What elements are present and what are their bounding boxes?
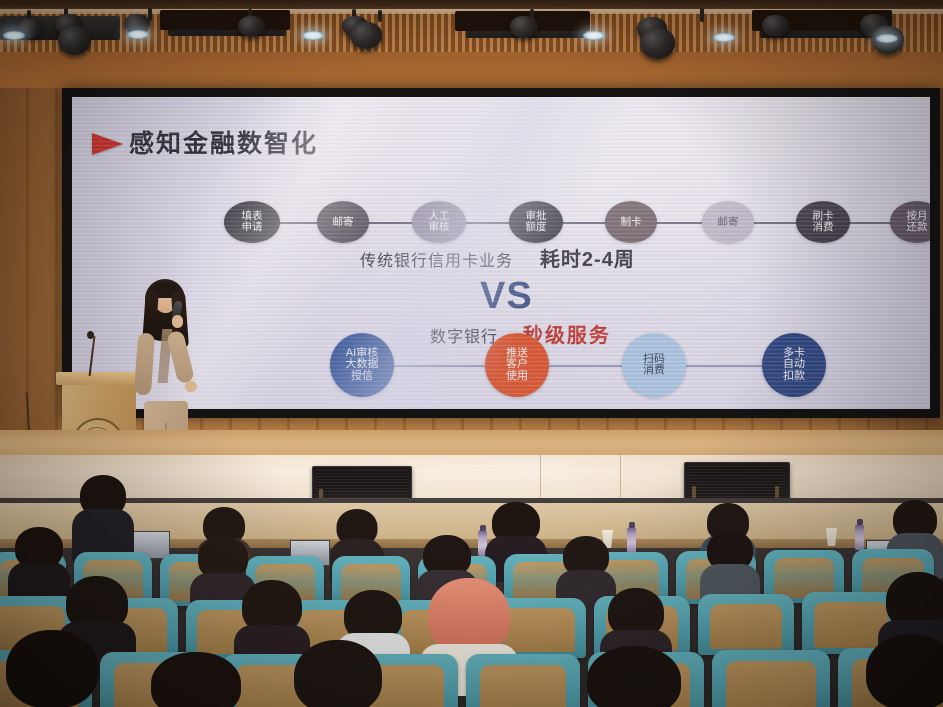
ceiling-downlight — [876, 34, 898, 43]
ceiling-downlight — [3, 31, 25, 40]
seat-cushion — [726, 661, 816, 707]
person-head — [151, 652, 241, 707]
audience-member-foreground — [140, 652, 252, 707]
person-head — [294, 640, 382, 707]
podium-microphone-head — [87, 331, 94, 339]
flow-edge — [684, 365, 764, 367]
person-head — [428, 578, 510, 654]
person-head — [587, 646, 681, 707]
seat-cushion — [710, 604, 783, 649]
ceiling-downlight — [583, 31, 605, 40]
audience-member-foreground — [576, 646, 692, 707]
ceiling-recess — [160, 10, 290, 30]
person-head — [866, 634, 943, 707]
spotlight-arm — [378, 10, 382, 22]
digital-node: 推送 客户 使用 — [485, 333, 549, 397]
spotlight-arm — [700, 8, 704, 22]
ceiling-downlight — [713, 33, 735, 42]
stage-seam — [620, 455, 621, 501]
auditorium-seat[interactable] — [466, 654, 580, 707]
audience-member — [700, 530, 760, 602]
digital-node: 扫码 消费 — [622, 333, 686, 397]
seat-cushion — [480, 665, 567, 707]
stage-spotlight — [238, 16, 265, 37]
flow-edge — [392, 365, 488, 367]
auditorium-seat[interactable] — [698, 594, 794, 655]
auditorium-photo: 感知金融数智化 填表 申请 邮寄 人工 审核 审批 额度 制卡 邮寄 — [0, 0, 943, 707]
audience-member-foreground — [0, 630, 110, 707]
bottle-cap — [629, 522, 635, 528]
digital-node: 多卡 自动 扣款 — [762, 333, 826, 397]
stage-spotlight — [350, 22, 382, 49]
presenter-hand-free — [185, 381, 197, 392]
water-bottle — [627, 527, 636, 553]
stage-seam — [540, 455, 541, 501]
ceiling-downlight — [127, 30, 149, 39]
ceiling-downlight — [302, 31, 324, 40]
stage-front-shine — [0, 455, 943, 501]
flow-edge — [547, 365, 625, 367]
digital-node: AI审核 大数据 授信 — [330, 333, 394, 397]
auditorium-seat[interactable] — [712, 650, 830, 707]
audience-member — [72, 475, 134, 560]
presenter-hand-mic — [172, 315, 183, 328]
audience-member-foreground — [856, 634, 943, 707]
stage-spotlight — [58, 26, 91, 55]
stage-floor — [0, 430, 943, 458]
stage-spotlight — [510, 16, 538, 38]
person-head — [6, 630, 98, 707]
bottle-cap — [857, 519, 863, 525]
stage-spotlight — [640, 28, 675, 59]
water-bottle — [855, 524, 864, 550]
audience-member-foreground — [282, 640, 394, 707]
stage-spotlight — [762, 15, 789, 37]
